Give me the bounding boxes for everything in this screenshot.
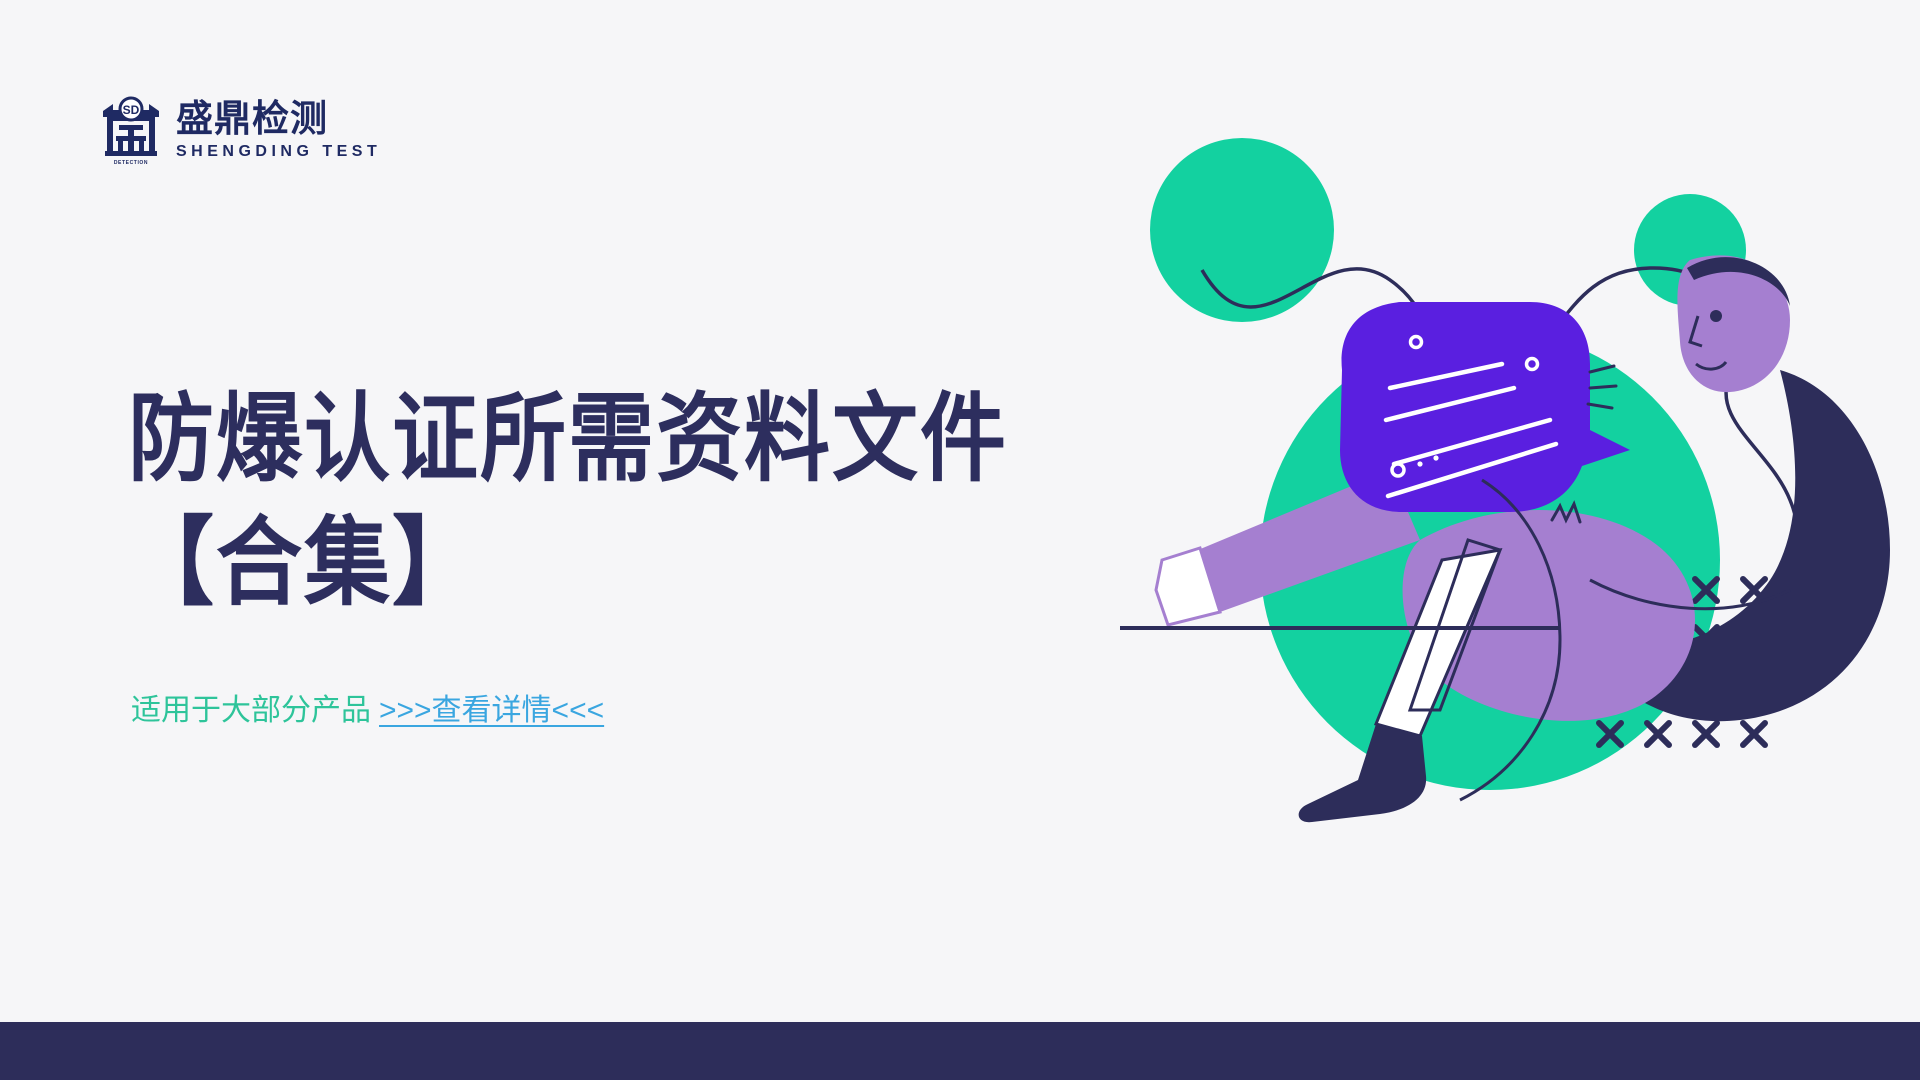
subtitle-lead-text: 适用于大部分产品 [131, 694, 371, 727]
slide-root: SD DETECTION 盛鼎检测 SHENGDING TEST 防爆认证所需资… [0, 0, 1920, 1080]
page-title-line-2: 【合集】 [128, 502, 1128, 625]
footer-bar [0, 1022, 1920, 1080]
logo-chinese-name: 盛鼎检测 [176, 100, 381, 137]
view-details-link[interactable]: >>>查看详情<<< [379, 694, 604, 727]
hero-illustration [1090, 120, 1920, 860]
page-title-line-1: 防爆认证所需资料文件 [128, 378, 1128, 501]
logo-english-name: SHENGDING TEST [176, 144, 381, 160]
person-head [1677, 255, 1790, 392]
subtitle: 适用于大部分产品>>>查看详情<<< [131, 690, 604, 732]
shengding-shield-mark-icon: SD DETECTION [100, 95, 162, 165]
page-title: 防爆认证所需资料文件 【合集】 [128, 378, 1128, 612]
brand-logo[interactable]: SD DETECTION 盛鼎检测 SHENGDING TEST [100, 95, 381, 165]
eye [1710, 310, 1722, 322]
green-circle-top-left [1150, 138, 1334, 322]
logo-wordmark: 盛鼎检测 SHENGDING TEST [176, 100, 381, 160]
svg-text:DETECTION: DETECTION [114, 160, 148, 165]
svg-text:SD: SD [123, 103, 140, 117]
hero-illustration-svg [1090, 120, 1920, 860]
